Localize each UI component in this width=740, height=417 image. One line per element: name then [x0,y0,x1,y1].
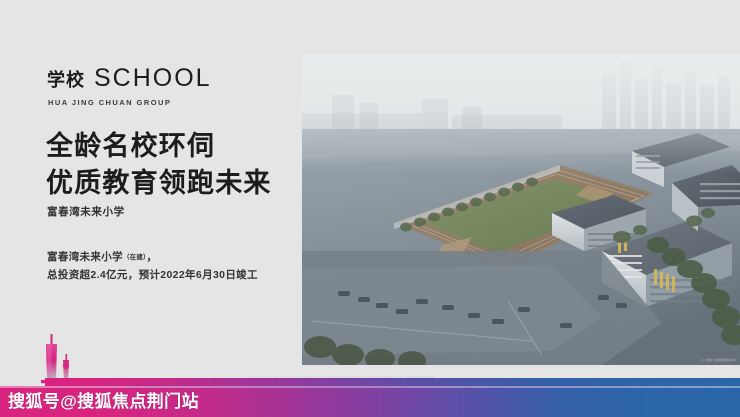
rendering-disclaimer: 以上图片为效果图仅供参考 [701,358,736,362]
promo-slide: 学校 SCHOOL HUA JING CHUAN GROUP 全龄名校环伺 优质… [0,0,740,417]
school-rendering-image: 以上图片为效果图仅供参考 [302,55,740,365]
headline-line-1: 全龄名校环伺 [46,128,296,165]
description-line-1: 富春湾未来小学（在建）， [47,249,258,267]
watermark-label: 搜狐号@搜狐焦点荆门站 [8,391,199,412]
project-subtitle: 富春湾未来小学 [47,207,125,218]
project-description: 富春湾未来小学（在建）， 总投资超2.4亿元，预计2022年6月30日竣工 [47,249,258,284]
brand-name-en: SCHOOL [94,66,212,91]
brand-group-line: HUA JING CHUAN GROUP [48,99,171,107]
headline-line-2: 优质教育领跑未来 [46,165,296,202]
brand-name-cn: 学校 [47,71,85,89]
description-line-2: 总投资超2.4亿元，预计2022年6月30日竣工 [47,267,258,284]
brand-lockup: 学校 SCHOOL [47,66,212,91]
headline-block: 全龄名校环伺 优质教育领跑未来 [46,128,296,202]
description-project-name: 富春湾未来小学 [47,251,123,263]
aerial-rendering-illustration [302,55,740,365]
description-status-note: （在建） [123,254,147,261]
description-comma: ， [147,251,158,263]
developer-tower-logo [36,324,82,386]
left-text-panel: 学校 SCHOOL HUA JING CHUAN GROUP 全龄名校环伺 优质… [0,0,302,386]
